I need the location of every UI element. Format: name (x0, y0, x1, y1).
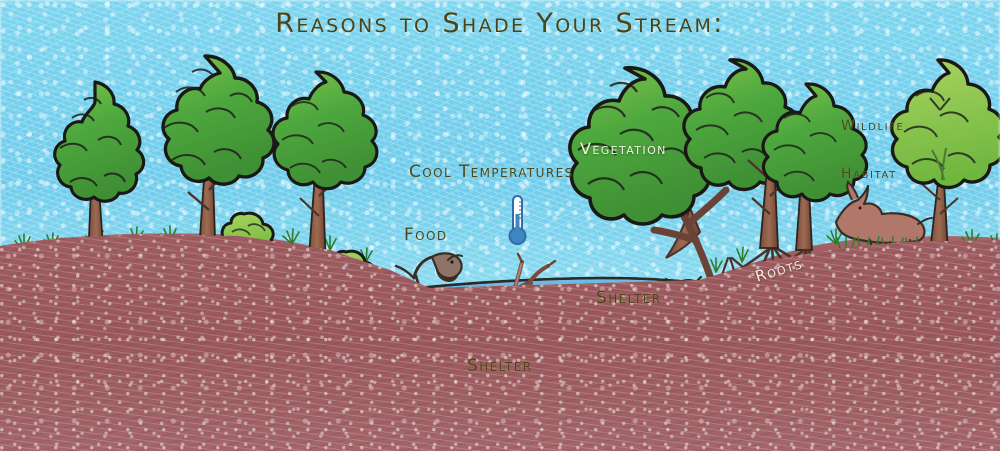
label-vegetation: Vegetation (580, 140, 667, 158)
label-shelter-turtle: Shelter (596, 289, 661, 309)
label-food: Food (404, 226, 448, 246)
label-cool-temperatures: Cool Temperatures (409, 163, 574, 183)
page-title: Reasons to Shade Your Stream: (275, 8, 725, 39)
thermometer-icon (510, 196, 526, 244)
label-wildlife-line1: Wildlife (841, 118, 904, 134)
label-wildlife-habitat: Wildlife Habitat (841, 86, 904, 215)
scene-artwork (0, 0, 1000, 451)
label-shelter-branches: Shelter (467, 357, 532, 377)
illustration-canvas: Reasons to Shade Your Stream: Cool Tempe… (0, 0, 1000, 451)
label-habitat-line2: Habitat (841, 166, 904, 182)
